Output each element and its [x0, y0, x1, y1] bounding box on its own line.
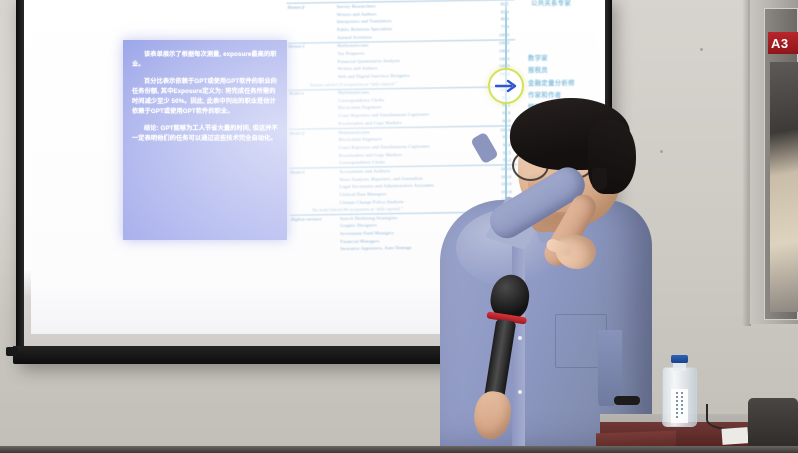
- chair-back: [748, 398, 798, 453]
- floor-line: [0, 446, 798, 453]
- water-bottle: [662, 355, 697, 427]
- paper-slip: [721, 427, 748, 445]
- wall-speck: [700, 48, 703, 51]
- slide-callout-box: 该表单展示了根据每次测量, exposure最高的职业。 百分比表示依赖于GPT…: [123, 40, 287, 240]
- shirt-button: [518, 390, 522, 394]
- arrow-glyph: [495, 78, 517, 94]
- annotation-line: 报税员: [528, 65, 595, 77]
- table-group-label: [290, 246, 334, 254]
- door-glass: [770, 62, 798, 312]
- presenter-sideburn: [592, 168, 607, 190]
- draped-cloth: [598, 330, 622, 406]
- fire-cabinet-sign-label: A3: [771, 36, 789, 51]
- presenter: [392, 96, 692, 453]
- callout-paragraph-3: 结论: GPT能够为工人节省大量的时间, 但这并不一定表明他们的任务可以通过这些…: [132, 124, 278, 144]
- label-text-line: [676, 392, 678, 418]
- label-text-line: [681, 392, 683, 414]
- callout-paragraph-2: 百分比表示依赖于GPT或使用GPT软件的职业的任务份额, 其中Exposure定…: [132, 77, 278, 117]
- annotation-column-top: 公共关系专家: [531, 0, 571, 10]
- lecture-room: 该表单展示了根据每次测量, exposure最高的职业。 百分比表示依赖于GPT…: [0, 0, 798, 453]
- annotation-line: 数学家: [528, 53, 595, 65]
- index-finger: [545, 237, 574, 257]
- fire-cabinet-sign: A3: [768, 32, 798, 54]
- bottle-label: [671, 389, 688, 423]
- annotation-line: 金融定量分析师: [528, 78, 595, 90]
- screen-left-rail: [16, 0, 24, 347]
- callout-paragraph-1: 该表单展示了根据每次测量, exposure最高的职业。: [132, 50, 278, 70]
- table-clamp: [614, 396, 640, 405]
- bottle-cap: [671, 355, 688, 363]
- shirt-cuff: [470, 132, 499, 165]
- annotation-line: 公共关系专家: [531, 0, 571, 10]
